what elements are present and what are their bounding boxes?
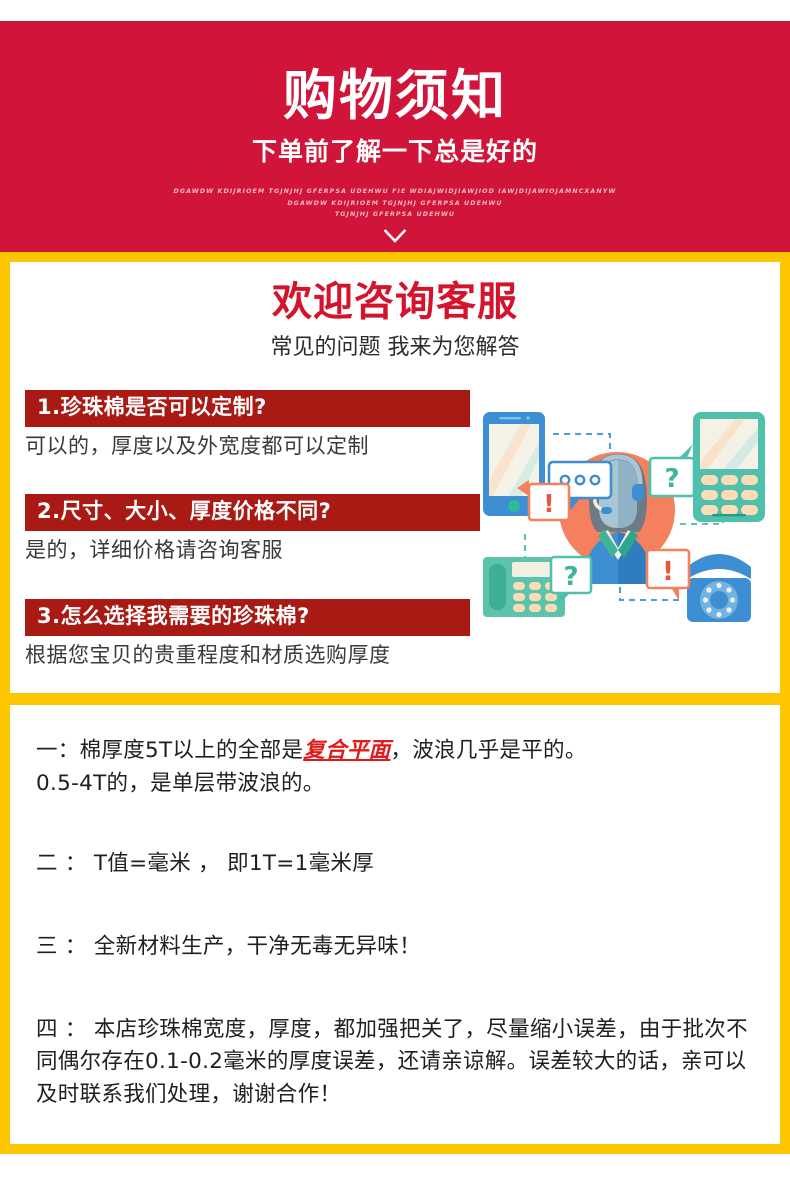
latin-line-2: DGAWDW KDIJRIOEM TGJNJHJ GFERPSA UDEHWU [0,198,790,210]
faq-panel: 欢迎咨询客服 常见的问题 我来为您解答 1.珍珠棉是否可以定制? 可以的，厚度以… [0,252,790,703]
faq-heading: 欢迎咨询客服 [10,282,780,322]
hero-banner: 购物须知 下单前了解一下总是好的 DGAWDW KDIJRIOEM TGJNJH… [0,21,790,252]
faq-item: 2.尺寸、大小、厚度价格不同? 是的，详细价格请咨询客服 [25,494,480,563]
note-item-4: 四 ： 本店珍珠棉宽度，厚度，都加强把关了，尽量缩小误差，由于批次不同偶尔存在0… [36,1014,764,1112]
notes-panel: 一：棉厚度5T以上的全部是复合平面，波浪几乎是平的。 0.5-4T的，是单层带波… [0,695,790,1154]
note-1-highlight: 复合平面 [303,738,390,763]
notes-list: 一：棉厚度5T以上的全部是复合平面，波浪几乎是平的。 0.5-4T的，是单层带波… [36,735,764,1112]
exclamation-bubble-icon: ! [647,550,689,601]
note-item-1: 一：棉厚度5T以上的全部是复合平面，波浪几乎是平的。 0.5-4T的，是单层带波… [36,735,764,800]
page-title: 购物须知 [0,69,790,123]
svg-text:!: ! [543,489,554,518]
faq-question: 2.尺寸、大小、厚度价格不同? [25,494,480,531]
latin-line-1: DGAWDW KDIJRIOEM TGJNJHJ GFERPSA UDEHWU … [0,186,790,198]
chevron-down-icon [384,229,406,245]
faq-subheading: 常见的问题 我来为您解答 [10,337,780,359]
note-1-suffix: ，波浪几乎是平的。 [390,738,586,763]
faq-answer: 可以的，厚度以及外宽度都可以定制 [25,434,470,459]
product-detail-page: 购物须知 下单前了解一下总是好的 DGAWDW KDIJRIOEM TGJNJH… [0,0,790,1184]
faq-item: 3.怎么选择我需要的珍珠棉? 根据您宝贝的贵重程度和材质选购厚度 [25,599,470,668]
question-bubble-icon: ? [650,444,694,496]
faq-question: 1.珍珠棉是否可以定制? [25,390,470,427]
mobile-phone-icon [693,412,765,522]
faq-item: 1.珍珠棉是否可以定制? 可以的，厚度以及外宽度都可以定制 [25,390,470,459]
latin-line-3: TGJNJHJ GFERPSA UDEHWU [0,209,790,221]
note-1-prefix: 一：棉厚度5T以上的全部是 [36,738,303,763]
svg-text:?: ? [563,562,578,592]
svg-text:!: ! [662,557,674,587]
faq-answer: 根据您宝贝的贵重程度和材质选购厚度 [25,643,470,668]
faq-question: 3.怎么选择我需要的珍珠棉? [25,599,470,636]
hero-decorative-latin-text: DGAWDW KDIJRIOEM TGJNJHJ GFERPSA UDEHWU … [0,186,790,221]
note-item-3: 三 ： 全新材料生产，干净无毒无异味！ [36,931,764,964]
faq-answer: 是的，详细价格请咨询客服 [25,538,480,563]
svg-text:?: ? [664,464,679,494]
note-1-line2: 0.5-4T的，是单层带波浪的。 [36,771,325,796]
rotary-phone-icon [687,554,751,622]
hero-subtitle: 下单前了解一下总是好的 [0,139,790,164]
note-item-2: 二 ： T值=毫米 ， 即1T=1毫米厚 [36,848,764,881]
customer-service-illustration: ! ? ? ! [465,402,775,632]
